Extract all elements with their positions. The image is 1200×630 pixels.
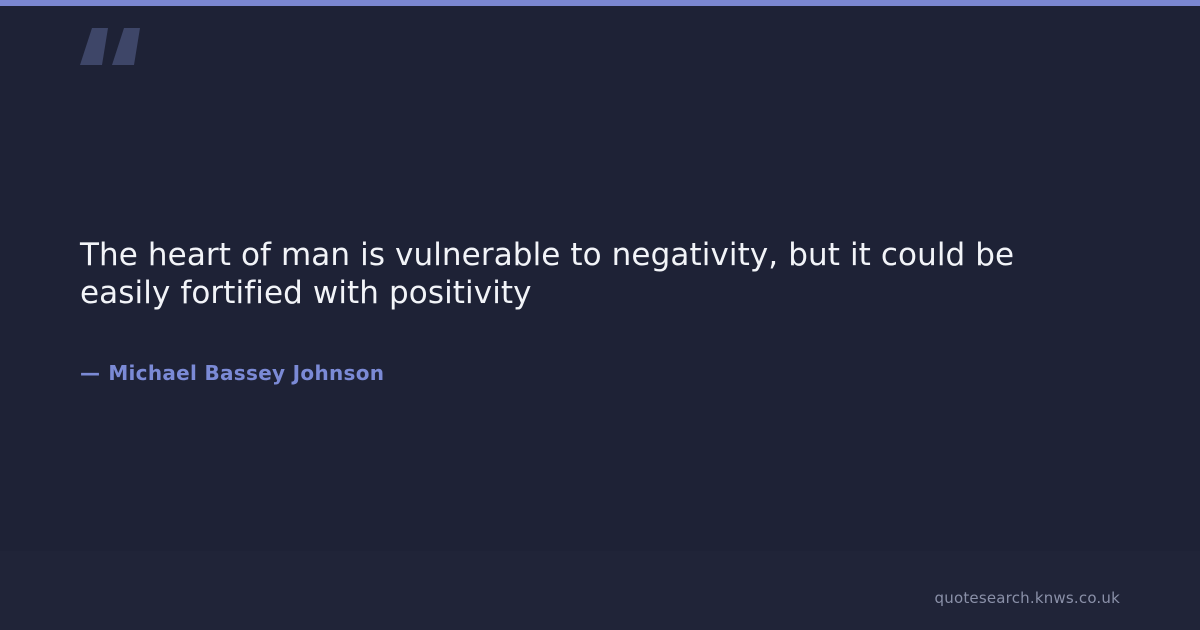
quote-text: The heart of man is vulnerable to negati… (80, 236, 1055, 312)
author-name: Michael Bassey Johnson (108, 361, 384, 385)
quote-attribution: —Michael Bassey Johnson (80, 312, 1120, 385)
site-watermark: quotesearch.knws.co.uk (935, 589, 1120, 607)
open-quote-icon (78, 18, 158, 90)
quote-body: The heart of man is vulnerable to negati… (80, 236, 1120, 385)
quote-card: The heart of man is vulnerable to negati… (0, 0, 1200, 630)
attribution-dash: — (80, 361, 100, 385)
top-accent-bar (0, 0, 1200, 6)
